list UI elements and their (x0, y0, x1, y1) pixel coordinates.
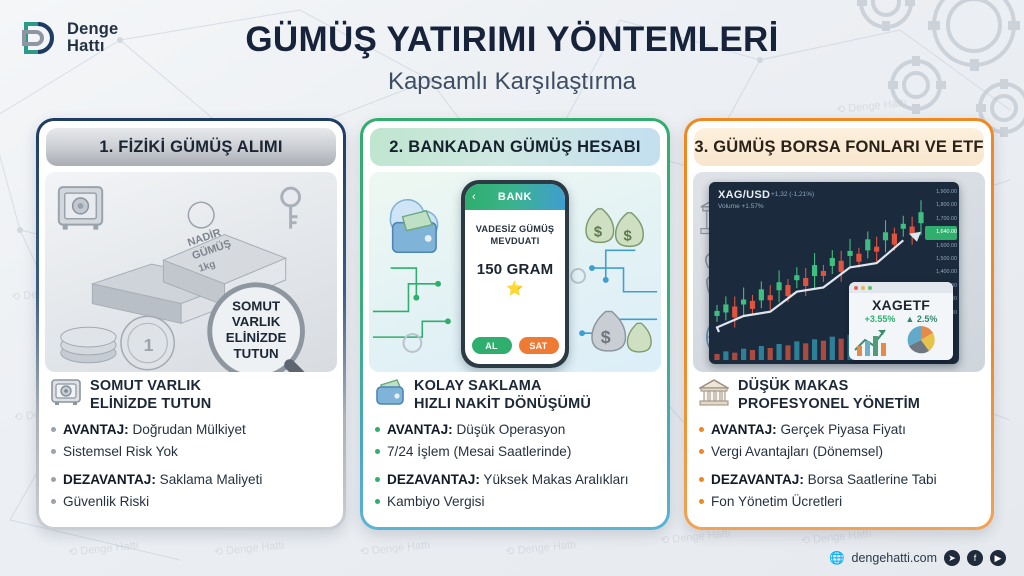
card-bank-silver-account[interactable]: 2. BANKADAN GÜMÜŞ HESABI (360, 118, 670, 530)
svg-text:1: 1 (144, 335, 154, 355)
svg-text:⟲ Denge Hattı: ⟲ Denge Hattı (660, 528, 732, 547)
list-item: Güvenlik Riski (51, 492, 331, 512)
svg-text:⟲ Denge Hattı: ⟲ Denge Hattı (68, 540, 140, 559)
bullet-text: Borsa Saatlerine Tabi (808, 472, 937, 487)
card-1-fact-title-2: ELİNİZDE TUTUN (90, 396, 211, 414)
y-tick: 1,400.00 (925, 266, 957, 279)
circuit-nodes-left (413, 281, 450, 324)
svg-text:$: $ (624, 228, 633, 244)
telegram-icon[interactable]: ➤ (944, 550, 960, 566)
list-item: Vergi Avantajları (Dönemsel) (699, 442, 979, 462)
y-tick: 1,900.00 (925, 186, 957, 199)
volume-bar (794, 341, 799, 360)
money-bag-icon: $ $ $ (586, 209, 651, 352)
card-1-fact-title-1: SOMUT VARLIK (90, 378, 211, 396)
etf-mini-charts (849, 324, 953, 358)
trade-buttons: AL SAT (465, 337, 565, 354)
bullet-text: Yüksek Makas Aralıkları (483, 472, 628, 487)
bullet-text: Vergi Avantajları (Dönemsel) (711, 442, 883, 462)
card-3-fact-title-2: PROFESYONEL YÖNETİM (738, 396, 920, 414)
card-1-illustration: NADİR GÜMÜŞ 1kg 1 SOMUT VARL (45, 172, 337, 372)
bullet-dot (699, 427, 704, 432)
bullet-dot (375, 449, 380, 454)
list-item: DEZAVANTAJ: Borsa Saatlerine Tabi (699, 470, 979, 490)
xagetf-overlay-panel: XAGETF +3.55% ▲ 2.5% (849, 282, 953, 360)
svg-text:$: $ (594, 224, 603, 240)
list-spacer (51, 463, 331, 469)
bar-chart-icon (857, 336, 886, 356)
product-line-2: MEVDUATI (465, 235, 565, 247)
bullet-dot (51, 427, 56, 432)
card-2-fact-head: KOLAY SAKLAMA HIZLI NAKİT DÖNÜŞÜMÜ (375, 378, 655, 413)
svg-text:ELİNİZDE: ELİNİZDE (226, 330, 287, 345)
card-physical-silver[interactable]: 1. FİZİKİ GÜMÜŞ ALIMI (36, 118, 346, 530)
key-icon (282, 188, 300, 228)
volume-bar (714, 354, 719, 360)
bullet-text: Kambiyo Vergisi (387, 492, 484, 512)
bullet-dot (699, 477, 704, 482)
volume-bar (768, 348, 773, 360)
bullet-label: DEZAVANTAJ: (711, 472, 804, 487)
list-item: 7/24 İşlem (Mesai Saatlerinde) (375, 442, 655, 462)
bullet-dot (375, 499, 380, 504)
y-tick-highlight: 1,640.00 (925, 226, 957, 239)
bullet-dot (51, 499, 56, 504)
list-item: DEZAVANTAJ: Saklama Maliyeti (51, 470, 331, 490)
y-tick: 1,800.00 (925, 199, 957, 212)
chevron-left-icon[interactable]: ‹ (472, 191, 476, 203)
svg-text:TUTUN: TUTUN (234, 346, 279, 361)
bullet-text: Güvenlik Riski (63, 492, 149, 512)
bullet-dot (699, 499, 704, 504)
bullet-text: Düşük Operasyon (456, 422, 565, 437)
list-item: Sistemsel Risk Yok (51, 442, 331, 462)
sell-button[interactable]: SAT (519, 337, 559, 354)
star-icon: ⭐ (465, 280, 565, 297)
card-3-fact-head: DÜŞÜK MAKAS PROFESYONEL YÖNETİM (699, 378, 979, 413)
globe-icon: 🌐 (829, 551, 845, 566)
list-spacer (375, 463, 655, 469)
volume-bar (830, 337, 835, 360)
bullet-dot (375, 427, 380, 432)
header: Denge Hattı GÜMÜŞ YATIRIMI YÖNTEMLERİ Ka… (0, 0, 1024, 112)
card-2-fact-title-1: KOLAY SAKLAMA (414, 378, 591, 396)
app-bar-title: BANK (498, 191, 532, 203)
bullet-text: Saklama Maliyeti (160, 472, 263, 487)
page-title: GÜMÜŞ YATIRIMI YÖNTEMLERİ (0, 20, 1024, 60)
bullet-label: AVANTAJ: (63, 422, 129, 437)
wallet-icon (375, 378, 405, 406)
svg-text:$: $ (601, 327, 611, 347)
card-etf-funds[interactable]: 3. GÜMÜŞ BORSA FONLARI VE ETF (684, 118, 994, 530)
card-2-fact-title-2: HIZLI NAKİT DÖNÜŞÜMÜ (414, 396, 591, 414)
list-item: AVANTAJ: Düşük Operasyon (375, 420, 655, 440)
card-3-header: 3. GÜMÜŞ BORSA FONLARI VE ETF (694, 128, 984, 166)
silver-bars-scene: NADİR GÜMÜŞ 1kg 1 SOMUT VARL (45, 172, 337, 372)
youtube-icon[interactable]: ▶ (990, 550, 1006, 566)
card-1-fact-head: SOMUT VARLIK ELİNİZDE TUTUN (51, 378, 331, 413)
y-tick: 1,700.00 (925, 213, 957, 226)
card-3-fact-title-1: DÜŞÜK MAKAS (738, 378, 920, 396)
list-item: AVANTAJ: Doğrudan Mülkiyet (51, 420, 331, 440)
y-tick: 1,500.00 (925, 253, 957, 266)
card-2-illustration: $ $ $ ‹ BANK VADESİZ GÜMÜŞ MEVDUATI 150 … (369, 172, 661, 372)
bullet-text: Fon Yönetim Ücretleri (711, 492, 842, 512)
safe-vault-icon (51, 378, 81, 406)
bank-building-icon (699, 378, 729, 406)
bullet-text: Doğrudan Mülkiyet (132, 422, 245, 437)
badge-text: SOMUT VARLIK ELİNİZDE TUTUN (226, 298, 287, 360)
silver-coins: 1 (61, 316, 174, 369)
bullet-dot (375, 477, 380, 482)
svg-text:⟲ Denge Hattı: ⟲ Denge Hattı (359, 539, 431, 558)
panel-titlebar (849, 282, 953, 293)
etf-ticker: XAGETF (849, 297, 953, 313)
card-3-illustration: XAG/USD +1,32 (-1,21%) Volume +1.57% 1,9… (693, 172, 985, 372)
list-spacer (699, 463, 979, 469)
svg-text:⟲ Denge Hattı: ⟲ Denge Hattı (505, 539, 577, 558)
card-2-header: 2. BANKADAN GÜMÜŞ HESABI (370, 128, 660, 166)
smartphone-icon: ‹ BANK VADESİZ GÜMÜŞ MEVDUATI 150 GRAM ⭐… (461, 180, 569, 368)
svg-text:⟲ Denge Hattı: ⟲ Denge Hattı (213, 539, 285, 558)
page-subtitle: Kapsamlı Karşılaştırma (0, 68, 1024, 96)
volume-bar (803, 343, 808, 360)
safe-vault-icon (59, 187, 102, 229)
website-link[interactable]: dengehatti.com (852, 551, 937, 565)
volume-bar (776, 344, 781, 360)
etf-change-pct: +3.55% (865, 314, 896, 324)
product-line-1: VADESİZ GÜMÜŞ (465, 223, 565, 235)
bullet-label: DEZAVANTAJ: (63, 472, 156, 487)
card-1-header: 1. FİZİKİ GÜMÜŞ ALIMI (46, 128, 336, 166)
list-item: DEZAVANTAJ: Yüksek Makas Aralıkları (375, 470, 655, 490)
card-1-bullet-list: AVANTAJ: Doğrudan Mülkiyet Sistemsel Ris… (51, 420, 331, 512)
pie-chart-icon (908, 326, 935, 353)
card-2-facts: KOLAY SAKLAMA HIZLI NAKİT DÖNÜŞÜMÜ AVANT… (363, 372, 667, 512)
bullet-dot (699, 449, 704, 454)
volume-bar (759, 346, 764, 360)
bullet-dot (51, 449, 56, 454)
bullet-label: AVANTAJ: (711, 422, 777, 437)
balance-amount: 150 GRAM (465, 261, 565, 278)
list-item: AVANTAJ: Gerçek Piyasa Fiyatı (699, 420, 979, 440)
volume-bar (821, 341, 826, 360)
svg-text:VARLIK: VARLIK (232, 314, 281, 329)
volume-bar (785, 345, 790, 360)
svg-text:SOMUT: SOMUT (232, 298, 280, 313)
volume-bar (750, 350, 755, 360)
y-tick: 1,600.00 (925, 240, 957, 253)
maximize-dot-icon[interactable] (868, 286, 872, 290)
facebook-icon[interactable]: f (967, 550, 983, 566)
close-dot-icon[interactable] (854, 286, 858, 290)
minimize-dot-icon[interactable] (861, 286, 865, 290)
volume-bar (732, 353, 737, 360)
card-3-bullet-list: AVANTAJ: Gerçek Piyasa Fiyatı Vergi Avan… (699, 420, 979, 512)
list-item: Kambiyo Vergisi (375, 492, 655, 512)
volume-bar (723, 351, 728, 360)
bullet-text: 7/24 İşlem (Mesai Saatlerinde) (387, 442, 571, 462)
buy-button[interactable]: AL (472, 337, 512, 354)
svg-text:⟲ Denge Hattı: ⟲ Denge Hattı (800, 528, 872, 547)
phone-screen: ‹ BANK VADESİZ GÜMÜŞ MEVDUATI 150 GRAM ⭐… (465, 184, 565, 364)
volume-bar (839, 339, 844, 360)
bullet-label: AVANTAJ: (387, 422, 453, 437)
card-2-bullet-list: AVANTAJ: Düşük Operasyon 7/24 İşlem (Mes… (375, 420, 655, 512)
bullet-label: DEZAVANTAJ: (387, 472, 480, 487)
volume-bar (741, 349, 746, 360)
bullet-dot (51, 477, 56, 482)
bullet-text: Gerçek Piyasa Fiyatı (780, 422, 905, 437)
cloud-wallet-icon (390, 200, 437, 253)
card-3-facts: DÜŞÜK MAKAS PROFESYONEL YÖNETİM AVANTAJ:… (687, 372, 991, 512)
xagusd-candlestick-chart: XAG/USD +1,32 (-1,21%) Volume +1.57% 1,9… (709, 182, 959, 364)
list-item: Fon Yönetim Ücretleri (699, 492, 979, 512)
etf-secondary-pct: ▲ 2.5% (905, 314, 937, 324)
footer: 🌐 dengehatti.com ➤ f ▶ (829, 550, 1006, 566)
bullet-text: Sistemsel Risk Yok (63, 442, 178, 462)
circuit-traces-left (373, 268, 448, 337)
volume-bar (812, 339, 817, 360)
card-1-facts: SOMUT VARLIK ELİNİZDE TUTUN AVANTAJ: Doğ… (39, 372, 343, 512)
app-bar: ‹ BANK (465, 184, 565, 210)
